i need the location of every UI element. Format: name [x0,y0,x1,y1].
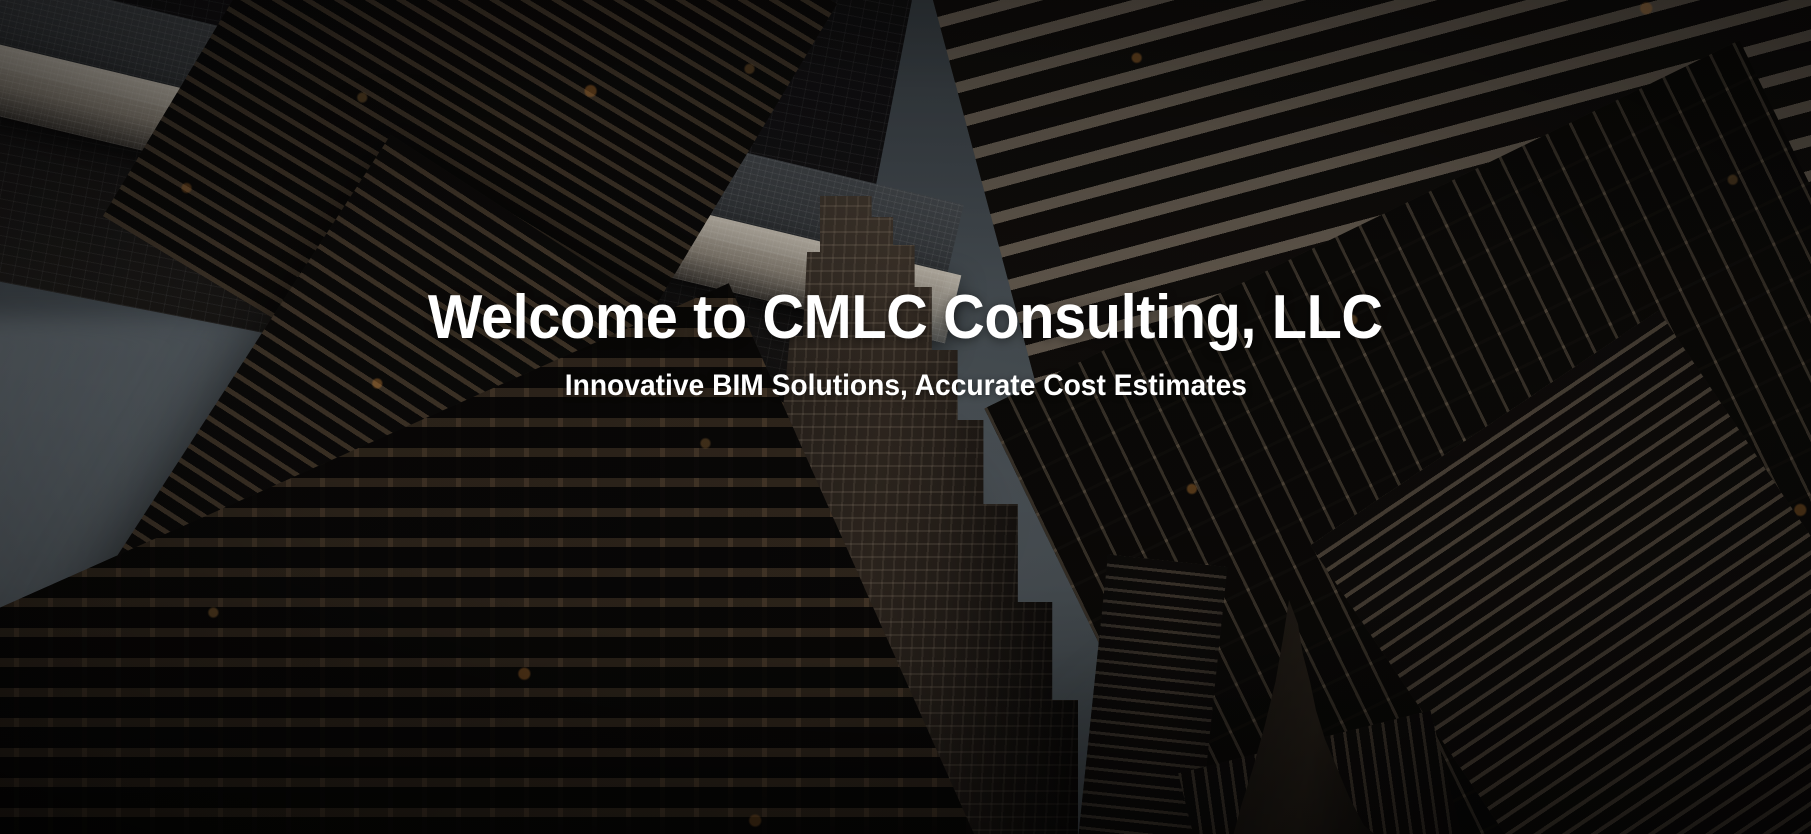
hero-banner: Welcome to CMLC Consulting, LLC Innovati… [0,0,1811,834]
hero-subtitle: Innovative BIM Solutions, Accurate Cost … [564,368,1246,404]
hero-title: Welcome to CMLC Consulting, LLC [428,286,1383,350]
hero-content: Welcome to CMLC Consulting, LLC Innovati… [0,0,1811,834]
